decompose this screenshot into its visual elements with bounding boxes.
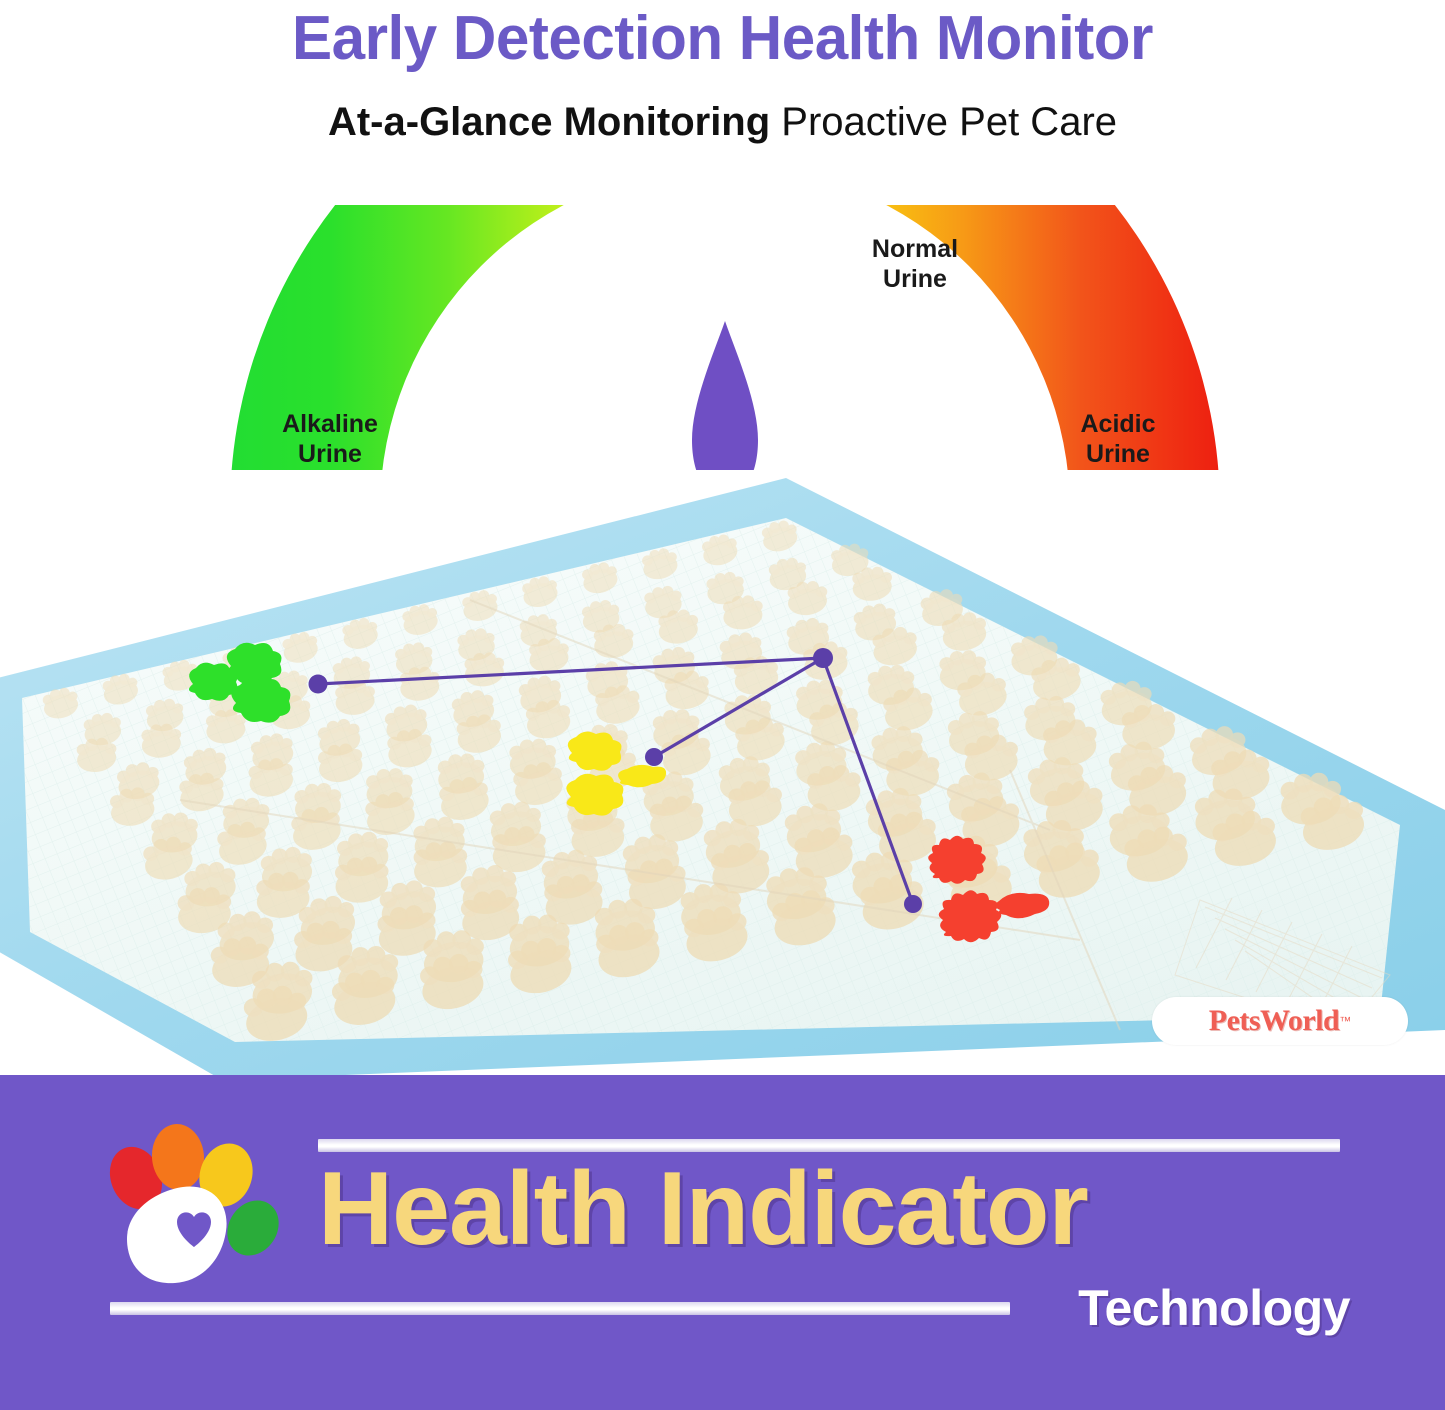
connector-hub-dot	[813, 648, 833, 668]
infographic-canvas: Early Detection Health Monitor At-a-Glan…	[0, 0, 1445, 1410]
gauge-label-alkaline: Alkaline Urine	[240, 410, 420, 469]
footer-headline: Health Indicator	[318, 1155, 1418, 1264]
page-title: Early Detection Health Monitor	[22, 6, 1424, 73]
gauge-label-alkaline-line1: Alkaline	[282, 410, 378, 438]
pad-illustration-svg	[0, 470, 1445, 1080]
training-pad-photo: PetsWorld™	[0, 470, 1445, 1080]
connector-dot-acidic	[904, 895, 922, 913]
footer-subhead: Technology	[1078, 1279, 1350, 1337]
gauge-label-acidic-line1: Acidic	[1080, 410, 1155, 438]
trademark-symbol: ™	[1339, 1014, 1351, 1028]
banner-rule-bottom	[110, 1302, 1010, 1315]
gauge-label-normal: Normal Urine	[825, 235, 1005, 294]
gauge-label-alkaline-line2: Urine	[298, 440, 362, 468]
page-subtitle: At-a-Glance Monitoring Proactive Pet Car…	[0, 100, 1445, 144]
header-section: Early Detection Health Monitor At-a-Glan…	[0, 0, 1445, 175]
brand-name: PetsWorld	[1209, 1004, 1340, 1038]
petsworld-brand-badge: PetsWorld™	[1152, 997, 1408, 1045]
gauge-label-normal-line1: Normal	[872, 235, 958, 263]
connector-dot-normal	[645, 748, 663, 766]
paw-heart-logo	[105, 1115, 285, 1290]
ph-gauge: Normal Urine Alkaline Urine Acidic Urine	[230, 205, 1220, 515]
gauge-label-acidic: Acidic Urine	[1028, 410, 1208, 469]
gauge-label-normal-line2: Urine	[883, 265, 947, 293]
subtitle-regular-part: Proactive Pet Care	[770, 100, 1117, 144]
subtitle-bold-part: At-a-Glance Monitoring	[328, 100, 770, 144]
gauge-label-acidic-line2: Urine	[1086, 440, 1150, 468]
connector-dot-alkaline	[309, 675, 328, 694]
